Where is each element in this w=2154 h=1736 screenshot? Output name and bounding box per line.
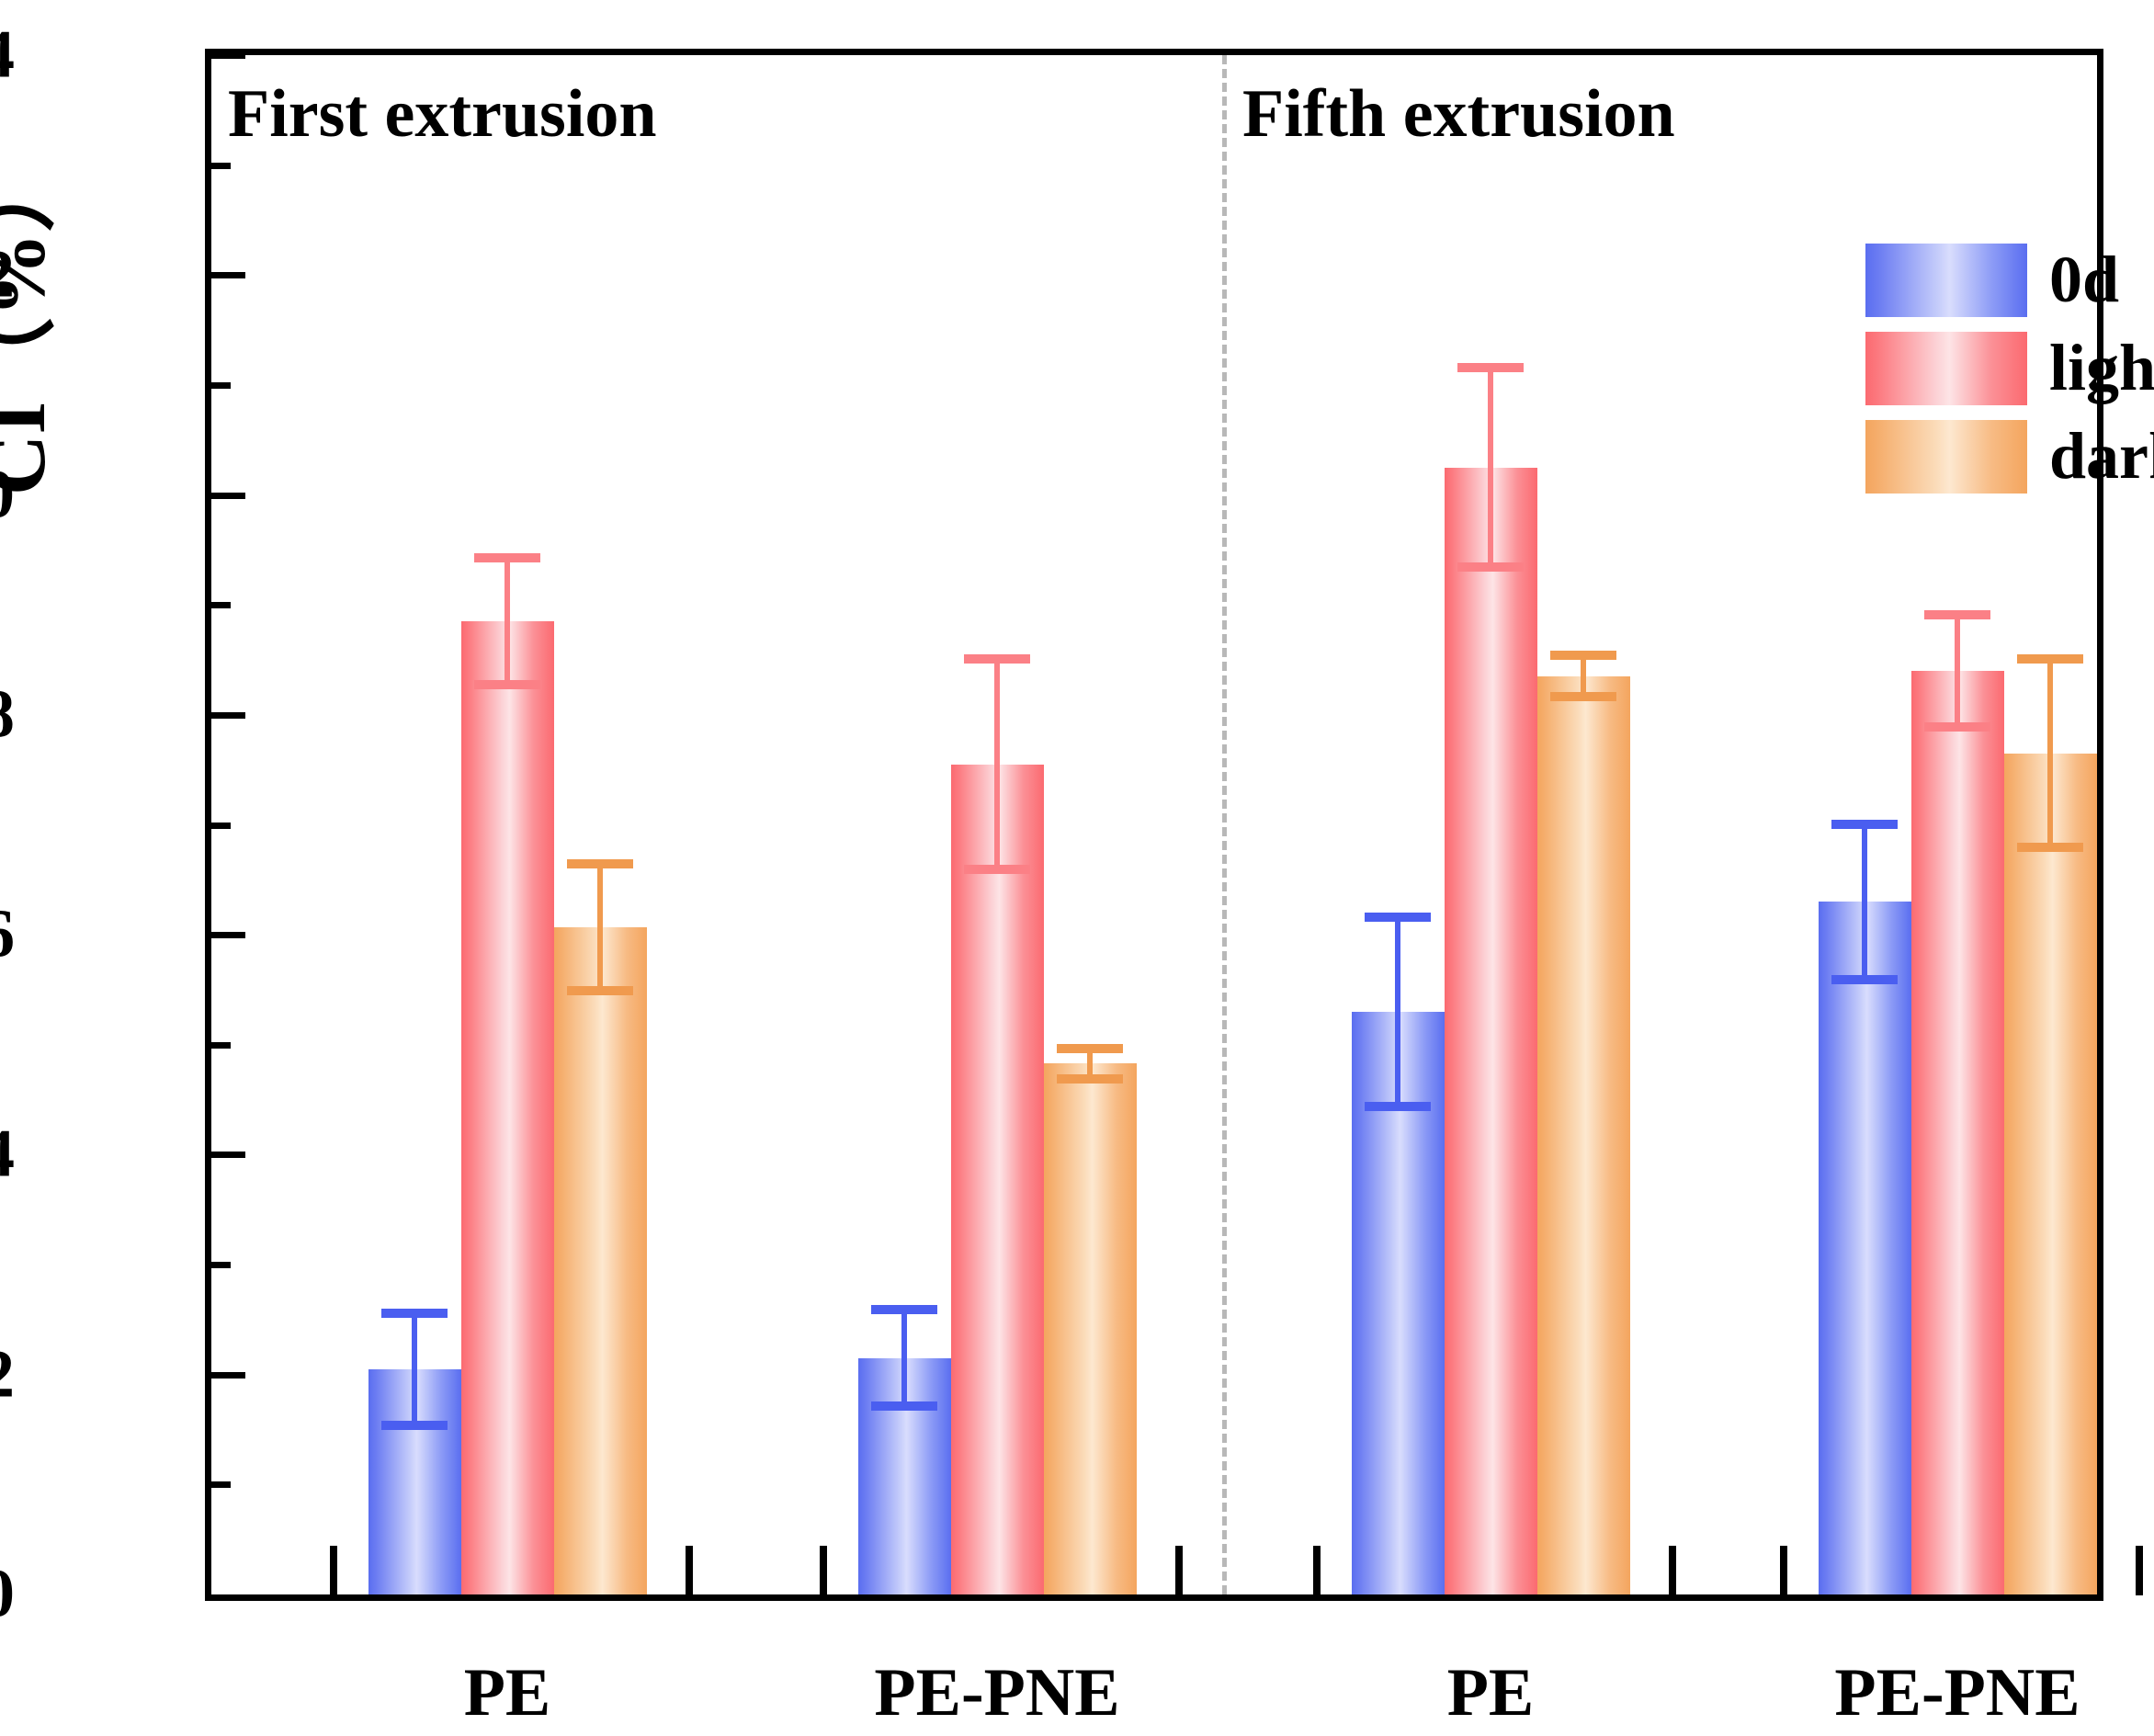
error-bar-cap-top [1457,363,1524,372]
error-bar [1445,363,1537,572]
bar [951,765,1044,1594]
error-bar [1044,1044,1137,1084]
y-tick-major [210,272,245,278]
error-bar-stem [1862,820,1867,984]
error-bar-stem [994,654,1000,874]
error-bar-cap-top [2017,654,2083,664]
error-bar [1911,610,2004,732]
legend-swatch [1865,420,2027,494]
error-bar-cap-top [567,859,633,868]
error-bar-stem [1395,913,1400,1110]
plot-inner: First extrusion Fifth extrusion 0dlight … [211,55,2097,1594]
y-tick-label: 6 [0,896,15,974]
error-bar [858,1305,951,1411]
error-bar-cap-bottom [964,865,1030,874]
error-bar-cap-top [1365,913,1431,922]
error-bar-stem [504,553,510,689]
y-tick-major [210,1152,245,1158]
y-tick-minor [210,1481,231,1488]
error-bar-cap-top [871,1305,937,1314]
y-tick-label: 12 [0,236,15,314]
y-tick-minor [210,602,231,608]
error-bar [1819,820,1911,984]
bar [1819,902,1911,1594]
chart-legend: 0dlight 40ddark 40d [1865,242,2154,494]
error-bar-cap-bottom [567,986,633,995]
panel-label-first-extrusion: First extrusion [228,75,657,153]
panel-label-fifth-extrusion: Fifth extrusion [1242,75,1675,153]
error-bar-stem [901,1305,907,1411]
legend-item: dark 40d [1865,418,2154,494]
x-tick [1780,1546,1787,1595]
x-tick-label: PE [1447,1654,1535,1732]
y-tick-label: 8 [0,675,15,754]
y-tick-major [210,493,245,499]
bar [1537,676,1630,1594]
error-bar-cap-top [1831,820,1898,829]
error-bar-stem [1488,363,1493,572]
x-tick-label: PE [464,1654,551,1732]
error-bar-stem [597,859,603,995]
error-bar-stem [412,1309,417,1430]
error-bar [1352,913,1445,1110]
bar [554,927,647,1594]
bar [1445,468,1537,1594]
x-tick [686,1546,693,1595]
legend-label: dark 40d [2049,418,2154,494]
error-bar-cap-top [474,553,540,562]
bar [1044,1063,1137,1594]
error-bar [951,654,1044,874]
error-bar [368,1309,461,1430]
y-axis-title: CI（%） [0,0,69,643]
error-bar-cap-top [1550,651,1616,660]
error-bar-stem [2047,654,2053,852]
error-bar-cap-bottom [2017,843,2083,852]
error-bar-cap-bottom [871,1401,937,1411]
error-bar-cap-top [964,654,1030,664]
y-tick-minor [210,1042,231,1049]
x-tick [820,1546,827,1595]
x-tick [330,1546,337,1595]
error-bar-cap-bottom [1057,1074,1123,1084]
bar [2004,754,2097,1594]
error-bar-cap-bottom [1924,722,1990,732]
panel-divider [1222,55,1227,1594]
error-bar-cap-bottom [1457,562,1524,572]
error-bar-cap-top [1924,610,1990,619]
plot-area: First extrusion Fifth extrusion 0dlight … [205,49,2103,1601]
x-tick [1313,1546,1321,1595]
y-tick-label: 0 [0,1556,15,1634]
error-bar [2004,654,2097,852]
x-tick [1669,1546,1676,1595]
legend-label: 0d [2049,242,2119,318]
y-tick-minor [210,163,231,169]
y-tick-minor [210,823,231,829]
x-tick-label: PE-PNE [874,1654,1119,1732]
y-tick-major [210,52,245,59]
error-bar-cap-top [1057,1044,1123,1053]
y-tick-major [210,1372,245,1379]
x-tick [2136,1546,2143,1595]
y-tick-label: 2 [0,1335,15,1413]
error-bar [1537,651,1630,701]
error-bar-cap-bottom [1550,692,1616,701]
y-tick-label: 4 [0,1116,15,1194]
x-tick [1175,1546,1183,1595]
legend-label: light 40d [2049,330,2154,406]
bar [461,621,554,1594]
y-tick-label: 10 [0,456,15,534]
error-bar-cap-bottom [1831,975,1898,984]
legend-swatch [1865,332,2027,405]
y-tick-major [210,932,245,938]
error-bar-cap-top [381,1309,448,1318]
legend-swatch [1865,244,2027,317]
bar [1911,671,2004,1594]
chart-figure: CI（%） 02468101214 PEPE-PNEPEPE-PNE First… [0,0,2154,1736]
x-tick-label: PE-PNE [1834,1654,2080,1732]
y-tick-minor [210,1262,231,1268]
error-bar [461,553,554,689]
error-bar-cap-bottom [474,680,540,689]
error-bar-cap-bottom [1365,1102,1431,1111]
legend-item: 0d [1865,242,2154,318]
error-bar [554,859,647,995]
y-tick-label: 14 [0,17,15,95]
y-tick-minor [210,382,231,389]
legend-item: light 40d [1865,330,2154,406]
error-bar-cap-bottom [381,1421,448,1430]
error-bar-stem [1955,610,1960,732]
y-tick-major [210,712,245,719]
